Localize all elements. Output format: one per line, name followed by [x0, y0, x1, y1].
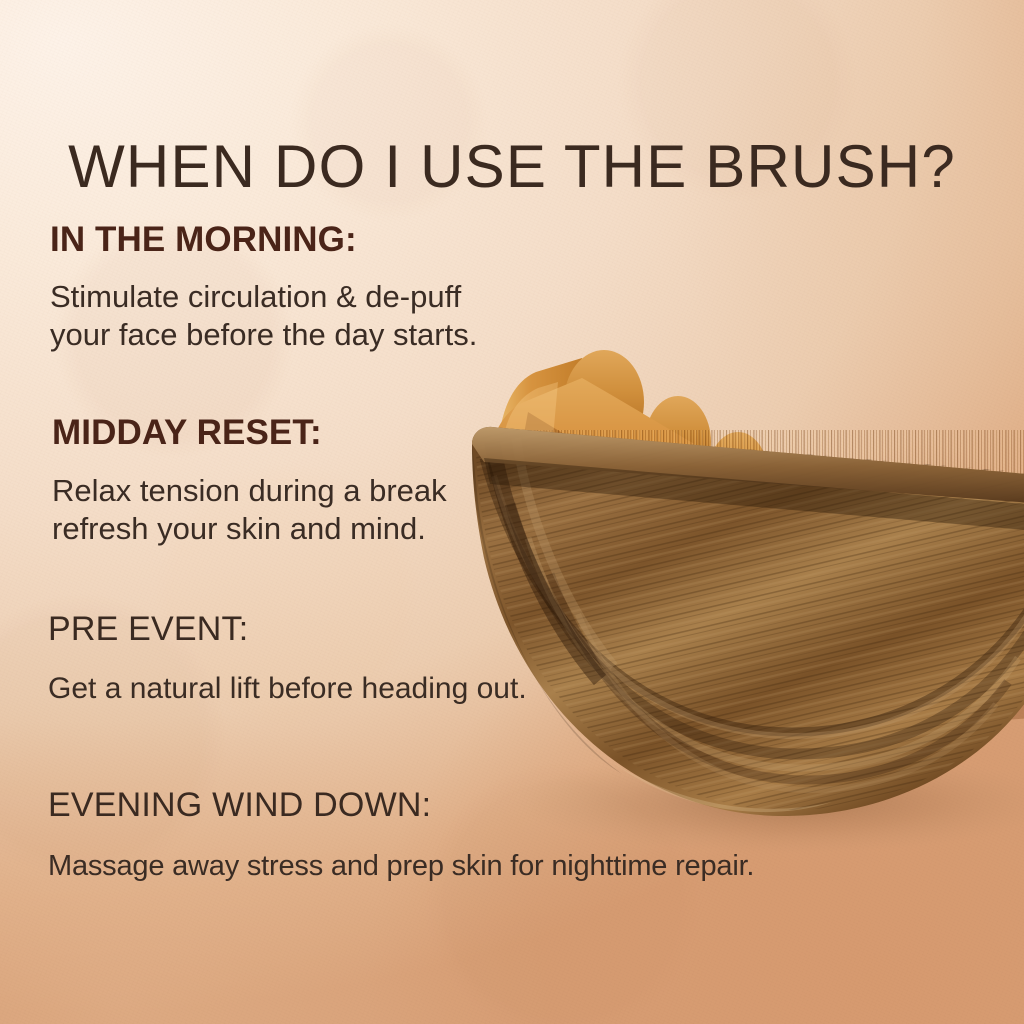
section-pre-event: PRE EVENT: Get a natural lift before hea… [0, 612, 688, 708]
section-midday-reset: MIDDAY RESET: Relax tension during a bre… [0, 415, 692, 548]
section-body-morning: Stimulate circulation & de-puff your fac… [50, 278, 690, 354]
section-body-evening: Massage away stress and prep skin for ni… [48, 849, 908, 884]
section-body-midday: Relax tension during a break refresh you… [52, 472, 692, 548]
section-in-the-morning: IN THE MORNING: Stimulate circulation & … [0, 222, 690, 354]
page-title: WHEN DO I USE THE BRUSH? [0, 132, 1024, 201]
section-heading-pre-event: PRE EVENT: [48, 612, 688, 646]
section-evening-wind-down: EVENING WIND DOWN: Massage away stress a… [0, 788, 908, 884]
promo-poster: WHEN DO I USE THE BRUSH? IN THE MORNING:… [0, 0, 1024, 1024]
section-heading-evening: EVENING WIND DOWN: [48, 788, 908, 822]
section-heading-midday: MIDDAY RESET: [52, 415, 692, 450]
section-body-pre-event: Get a natural lift before heading out. [48, 671, 688, 708]
section-heading-morning: IN THE MORNING: [50, 222, 690, 257]
